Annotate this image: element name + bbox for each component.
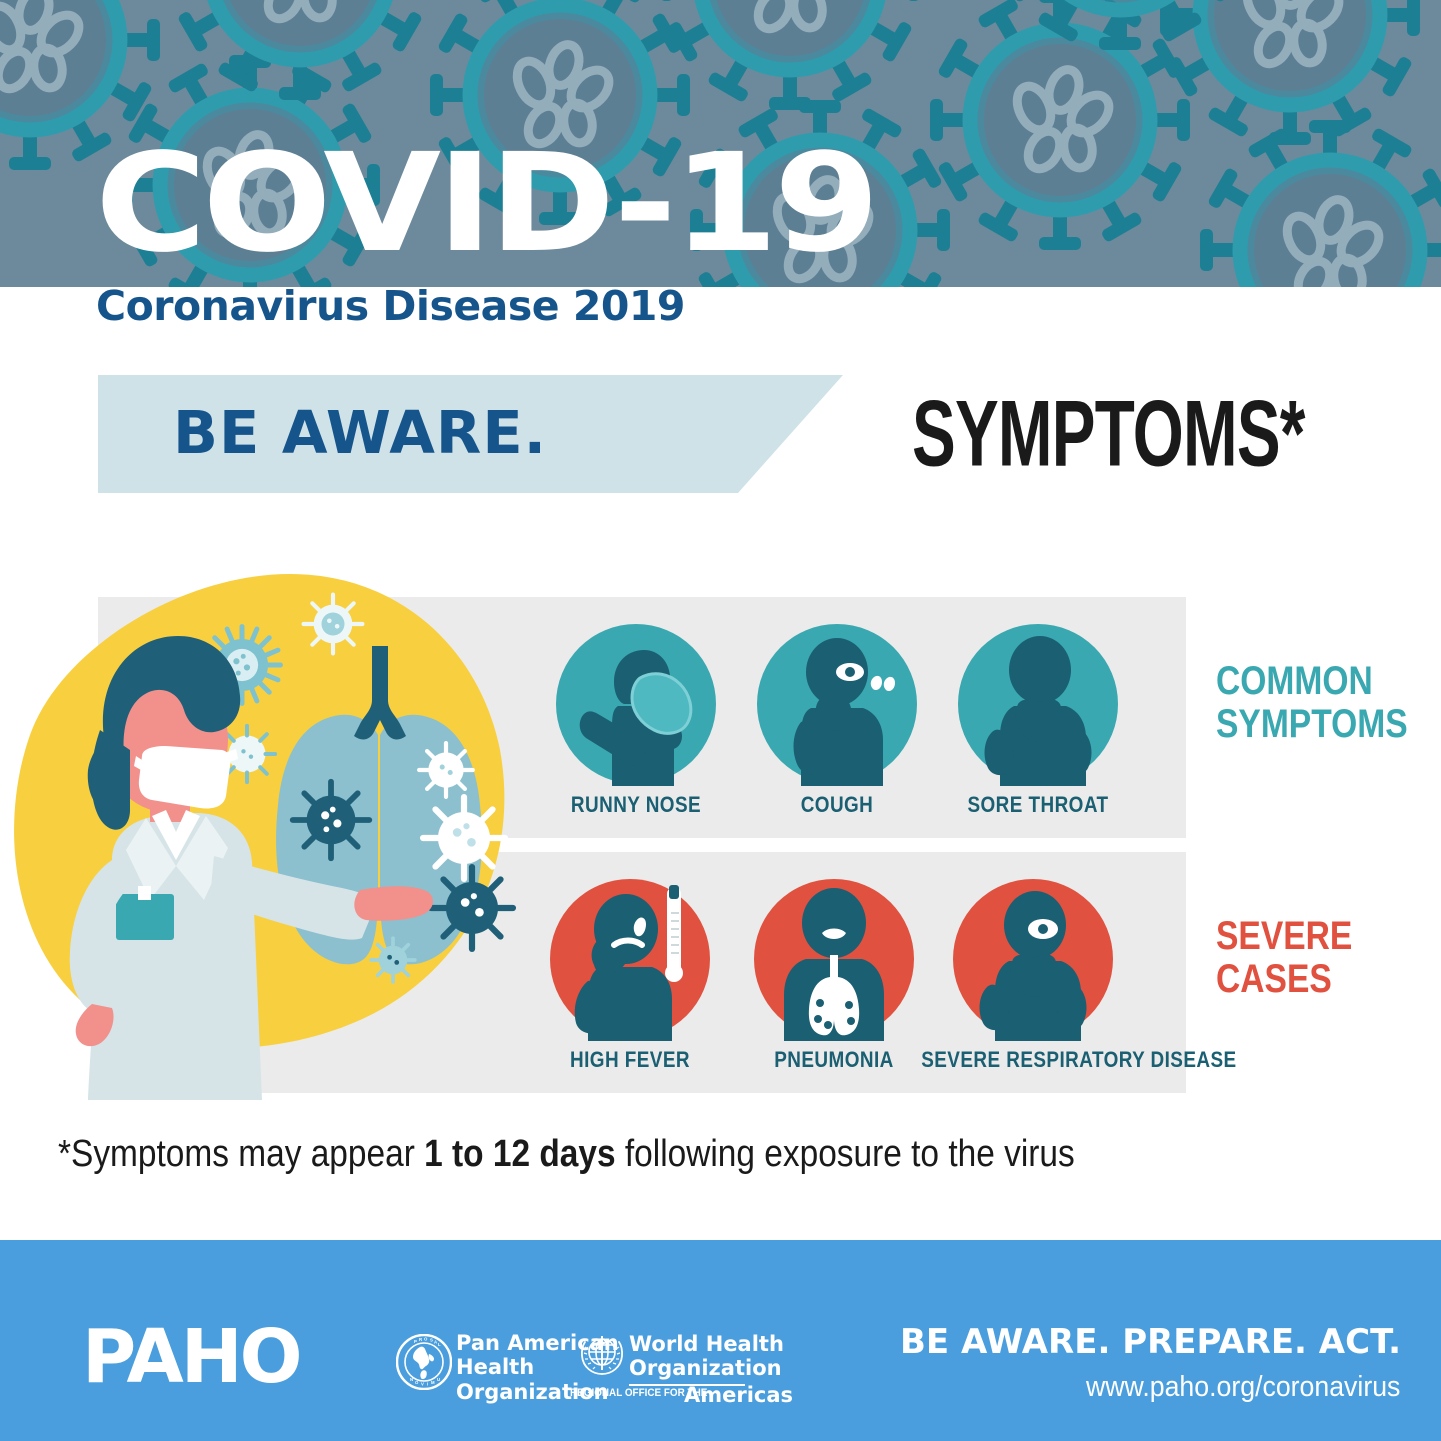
svg-text:O: O — [424, 1337, 428, 1342]
category-line-1: COMMON — [1216, 660, 1408, 703]
symptom-label: HIGH FEVER — [559, 1047, 700, 1073]
page-subtitle: Coronavirus Disease 2019 — [96, 286, 685, 327]
svg-text:I: I — [427, 1382, 428, 1387]
person-tissue-nose-icon — [554, 622, 718, 786]
symptom-severe-respiratory-disease[interactable]: SEVERE RESPIRATORY DISEASE — [903, 877, 1163, 1073]
common-symptoms-label: COMMON SYMPTOMS — [1216, 660, 1408, 746]
symptom-label: PNEUMONIA — [763, 1047, 904, 1073]
category-line-1: SEVERE — [1216, 915, 1352, 958]
be-aware-banner: BE AWARE. — [98, 375, 843, 493]
svg-text:R: R — [419, 1337, 423, 1342]
symptom-sore-throat[interactable]: SORE THROAT — [956, 622, 1120, 818]
be-aware-label: BE AWARE. — [173, 401, 547, 466]
symptom-runny-nose[interactable]: RUNNY NOSE — [554, 622, 718, 818]
svg-text:V: V — [421, 1382, 424, 1387]
category-line-2: SYMPTOMS — [1216, 703, 1408, 746]
person-breathing-difficulty-icon — [951, 877, 1115, 1041]
svg-text:S: S — [430, 1338, 433, 1343]
severe-cases-label: SEVERE CASES — [1216, 915, 1352, 1001]
thermometer-icon — [665, 885, 683, 982]
symptom-label: SEVERE RESPIRATORY DISEASE — [921, 1047, 1145, 1073]
symptom-pneumonia[interactable]: PNEUMONIA — [752, 877, 916, 1073]
svg-text:L: L — [438, 1342, 441, 1347]
paho-wordmark: PAHO — [82, 1320, 300, 1394]
footnote-emphasis: 1 to 12 days — [424, 1133, 615, 1175]
who-full-name: World Health Organization — [629, 1332, 784, 1381]
who-name-line-2: Organization — [629, 1356, 784, 1380]
footnote: *Symptoms may appear 1 to 12 days follow… — [58, 1133, 1075, 1176]
who-name-line-1: World Health — [629, 1332, 784, 1356]
footer-tagline: BE AWARE. PREPARE. ACT. — [900, 1322, 1401, 1362]
symptom-label: COUGH — [766, 792, 907, 818]
page-title: COVID-19 — [95, 136, 875, 272]
svg-text:P: P — [414, 1339, 417, 1344]
person-coughing-icon — [755, 622, 919, 786]
footer-url[interactable]: www.paho.org/coronavirus — [1086, 1371, 1400, 1404]
svg-text:A: A — [434, 1340, 437, 1345]
who-emblem-icon — [578, 1330, 626, 1378]
svg-text:M: M — [431, 1380, 435, 1385]
footnote-suffix: following exposure to the virus — [616, 1133, 1075, 1175]
symptom-high-fever[interactable]: HIGH FEVER — [548, 877, 712, 1073]
who-americas-label: Americas — [684, 1383, 793, 1407]
paho-seal-icon: PRO SAL NOV IMU — [396, 1334, 452, 1390]
svg-text:U: U — [437, 1377, 440, 1382]
svg-text:N: N — [410, 1377, 413, 1382]
person-holding-throat-icon — [956, 622, 1120, 786]
category-line-2: CASES — [1216, 958, 1352, 1001]
symptom-cough[interactable]: COUGH — [755, 622, 919, 818]
person-fever-thermometer-icon — [548, 877, 712, 1041]
person-infected-lungs-icon — [752, 877, 916, 1041]
symptom-label: SORE THROAT — [967, 792, 1108, 818]
doctor-lungs-illustration — [0, 560, 560, 1100]
symptoms-heading: SYMPTOMS* — [912, 388, 1305, 481]
footnote-prefix: *Symptoms may appear — [58, 1133, 424, 1175]
symptom-label: RUNNY NOSE — [565, 792, 706, 818]
